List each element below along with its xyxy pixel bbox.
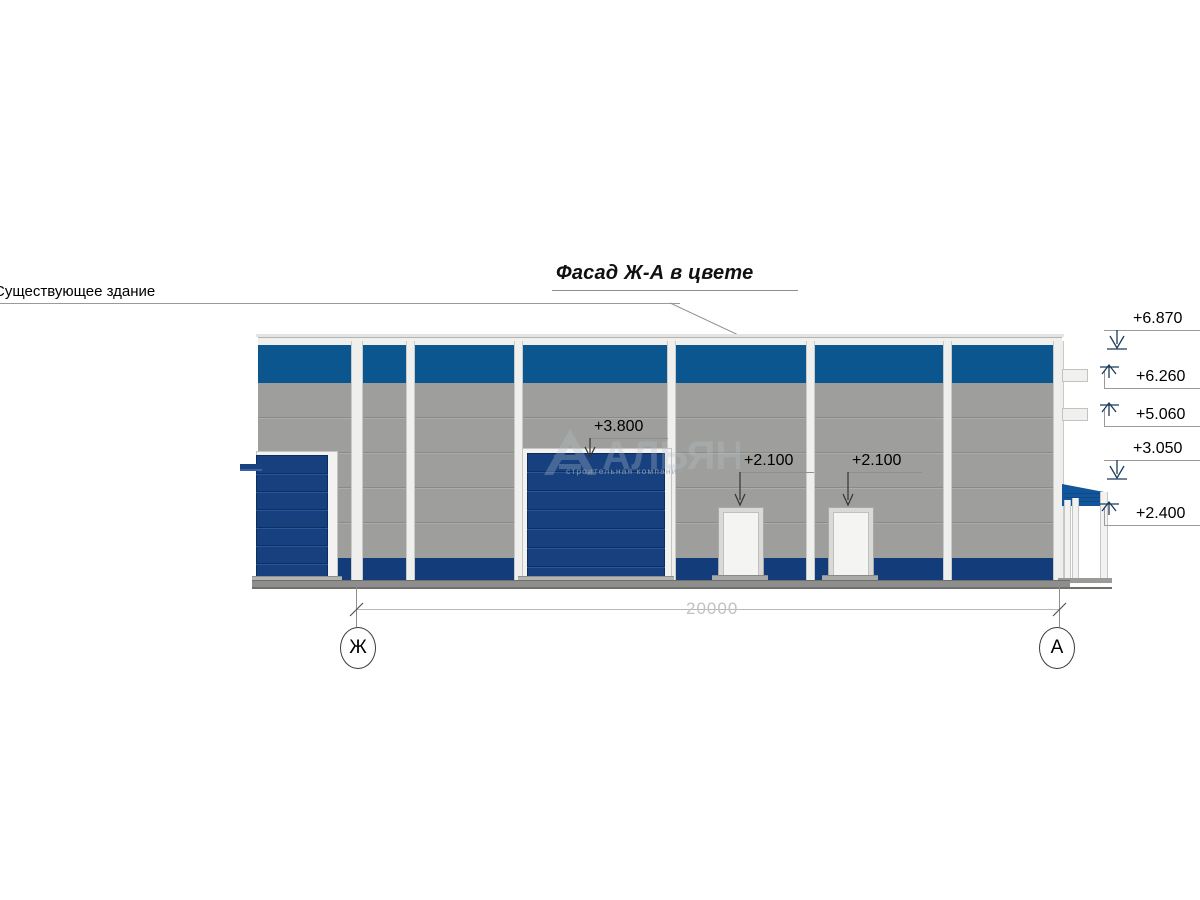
personnel-door-2[interactable]	[833, 512, 869, 581]
level-label-5: +2.400	[1136, 505, 1185, 523]
callout-label-2100-b: +2.100	[852, 452, 901, 470]
level-label-3: +5.060	[1136, 406, 1185, 424]
level-arrow-up-2	[1100, 364, 1126, 382]
level-leader-5	[1104, 525, 1200, 526]
sectional-door-left[interactable]	[256, 455, 328, 582]
axis-bubble-left[interactable]: Ж	[340, 627, 376, 669]
existing-building-label: Существующее здание	[0, 283, 155, 300]
title-underline	[552, 290, 798, 291]
watermark-tagline: строительная компания	[566, 466, 683, 476]
column-strip	[806, 341, 815, 582]
axis-bubble-right[interactable]: А	[1039, 627, 1075, 669]
canopy-post-mid	[1072, 498, 1079, 580]
callout-arrow-2100-b	[842, 472, 858, 508]
level-arrow-down-4	[1104, 460, 1130, 482]
canopy-post-left	[1064, 500, 1071, 580]
level-label-4: +3.050	[1133, 440, 1182, 458]
wall-bracket-lower	[1062, 408, 1088, 421]
dimension-tick-right	[1051, 601, 1069, 619]
dimension-label: 20000	[686, 599, 738, 619]
callout-rule-2100-b	[848, 472, 922, 473]
facade-top-blue-band	[258, 345, 1062, 383]
wall-bracket-upper	[1062, 369, 1088, 382]
dimension-tick-left	[348, 601, 366, 619]
level-arrow-up-5	[1100, 501, 1126, 519]
drawing-title: Фасад Ж-А в цвете	[556, 262, 753, 285]
callout-label-2100-a: +2.100	[744, 452, 793, 470]
level-label-2: +6.260	[1136, 368, 1185, 386]
level-arrow-down-1	[1104, 330, 1130, 352]
level-arrow-up-3	[1100, 402, 1126, 420]
column-strip	[351, 341, 363, 582]
column-strip	[406, 341, 415, 582]
drawing-canvas: Фасад Ж-А в цвете Существующее здание	[0, 0, 1200, 900]
level-leader-2	[1104, 388, 1200, 389]
existing-building-leader-horizontal	[0, 303, 680, 304]
door-hardware-tab-shadow	[240, 469, 262, 471]
callout-rule-2100-a	[740, 472, 814, 473]
personnel-door-1[interactable]	[723, 512, 759, 581]
level-leader-3	[1104, 426, 1200, 427]
level-label-1: +6.870	[1133, 310, 1182, 328]
ground-line	[252, 587, 1112, 589]
column-strip	[943, 341, 952, 582]
